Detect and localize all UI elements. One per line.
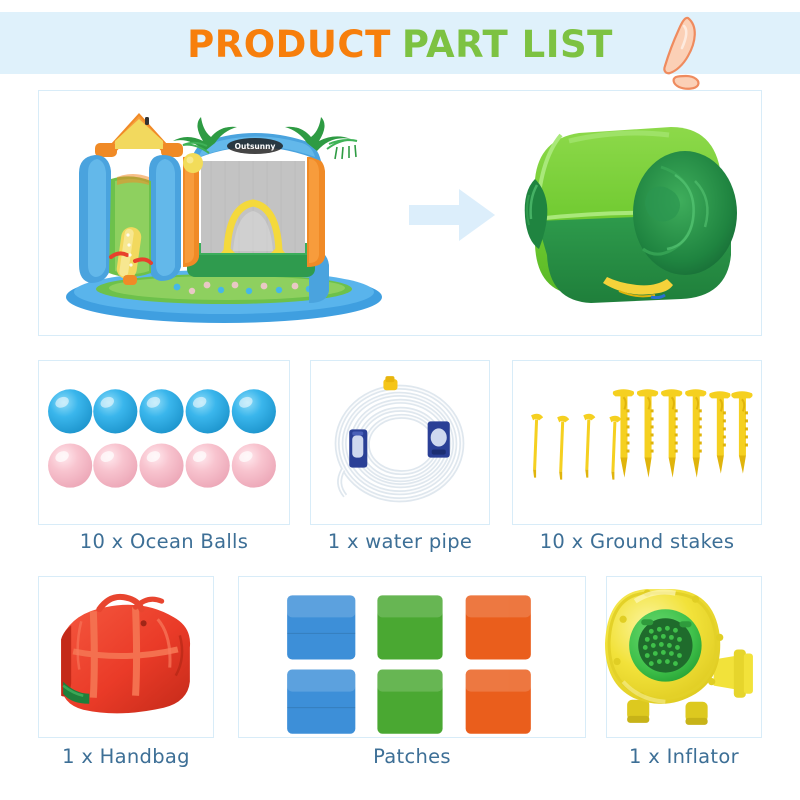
panel-ground-stakes xyxy=(512,360,762,525)
ocean-balls-row-pink xyxy=(48,444,276,488)
hose-connector-left xyxy=(349,429,367,467)
panel-handbag xyxy=(38,576,214,738)
large-ribbed-stakes xyxy=(613,389,753,477)
small-hook-stakes xyxy=(531,414,621,480)
caption-ocean-balls: 10 x Ocean Balls xyxy=(38,530,290,553)
caption-inflator: 1 x Inflator xyxy=(606,745,762,768)
patches-image xyxy=(239,577,585,737)
panel-inflator xyxy=(606,576,762,738)
title-word-product: PRODUCT xyxy=(187,23,391,66)
right-arrow-icon xyxy=(409,187,495,243)
ocean-balls-row-blue xyxy=(48,389,276,433)
water-pipe-image xyxy=(311,361,489,524)
exclamation-mark-icon xyxy=(650,14,706,90)
product-part-list-page: PRODUCT PART LIST xyxy=(0,0,800,800)
caption-ground-stakes: 10 x Ground stakes xyxy=(512,530,762,553)
palm-tree-right xyxy=(285,117,357,159)
ocean-balls-image xyxy=(39,361,289,524)
patch-row-bottom xyxy=(287,670,531,734)
hero-panel: Outsunny xyxy=(38,90,762,336)
caption-handbag: 1 x Handbag xyxy=(38,745,214,768)
panel-ocean-balls xyxy=(38,360,290,525)
panel-water-pipe xyxy=(310,360,490,525)
panel-patches xyxy=(238,576,586,738)
handbag-image xyxy=(39,577,213,737)
patch-row-top xyxy=(287,595,531,659)
brand-label: Outsunny xyxy=(235,142,276,151)
caption-patches: Patches xyxy=(238,745,586,768)
rolled-storage-bag-image xyxy=(499,101,755,325)
hose-connector-right xyxy=(428,421,450,457)
title-word-part-list: PART LIST xyxy=(402,23,613,66)
ground-stakes-image xyxy=(513,361,761,524)
yellow-hose-fitting xyxy=(383,376,397,390)
bounce-house-image: Outsunny xyxy=(59,99,389,327)
inflator-image xyxy=(607,577,761,737)
caption-water-pipe: 1 x water pipe xyxy=(310,530,490,553)
